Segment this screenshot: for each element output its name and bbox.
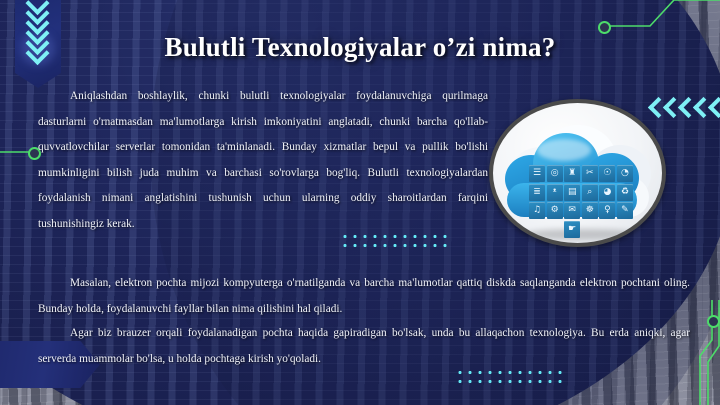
circuit-node-bottom-right bbox=[707, 315, 720, 328]
cloud-tile-spacer bbox=[617, 221, 633, 238]
cloud-app-tile: ◕ bbox=[599, 184, 615, 201]
page-title: Bulutli Texnologiyalar o’zi nima? bbox=[0, 32, 720, 63]
cloud-app-tile: ᵜ bbox=[547, 184, 563, 201]
paragraph-2: Masalan, elektron pochta mijozi kompyute… bbox=[38, 271, 690, 322]
cloud-app-tile: ▤ bbox=[564, 184, 580, 201]
cloud-app-tile: ♜ bbox=[564, 165, 580, 182]
cloud-app-tile: ♫ bbox=[529, 202, 545, 219]
cloud-app-tile: ♻ bbox=[617, 184, 633, 201]
cloud-app-tile: ☸ bbox=[582, 202, 598, 219]
chevron-left-icon bbox=[708, 96, 720, 118]
cloud-tile-spacer bbox=[582, 221, 598, 238]
cloud-tile-spacer bbox=[599, 221, 615, 238]
cloud-app-tile: ≣ bbox=[529, 184, 545, 201]
cloud-highlight bbox=[537, 139, 591, 161]
cloud-oval-frame: ☰◎♜✂☉◔≣ᵜ▤⌕◕♻♫⚙✉☸♀✎☛ bbox=[489, 99, 666, 247]
paragraph-3: Agar biz brauzer orqali foydalanadigan p… bbox=[38, 321, 690, 372]
paragraph-1-text: Aniqlashdan boshlaylik, chunki bulutli t… bbox=[38, 90, 488, 230]
cloud-tile-spacer bbox=[547, 221, 563, 238]
cloud-app-tile: ⚙ bbox=[547, 202, 563, 219]
paragraph-2-text: Masalan, elektron pochta mijozi kompyute… bbox=[38, 277, 690, 315]
presentation-slide: ☰◎♜✂☉◔≣ᵜ▤⌕◕♻♫⚙✉☸♀✎☛ Bulutli Texnologiyal… bbox=[0, 0, 720, 405]
cloud-app-tile: ✎ bbox=[617, 202, 633, 219]
cloud-app-tile: ◔ bbox=[617, 165, 633, 182]
cloud-app-tile: ◎ bbox=[547, 165, 563, 182]
cloud-app-tile: ✉ bbox=[564, 202, 580, 219]
cloud-app-tile: ☛ bbox=[564, 221, 580, 238]
paragraph-1: Aniqlashdan boshlaylik, chunki bulutli t… bbox=[38, 84, 488, 238]
cloud-tile-spacer bbox=[529, 221, 545, 238]
paragraph-3-text: Agar biz brauzer orqali foydalanadigan p… bbox=[38, 327, 690, 365]
cloud-app-tile: ✂ bbox=[582, 165, 598, 182]
chevron-left-icon bbox=[693, 96, 706, 118]
cloud-app-tile-grid: ☰◎♜✂☉◔≣ᵜ▤⌕◕♻♫⚙✉☸♀✎☛ bbox=[529, 165, 633, 237]
cloud-app-tile: ☉ bbox=[599, 165, 615, 182]
cloud-app-tile: ⌕ bbox=[582, 184, 598, 201]
cloud-app-tile: ♀ bbox=[599, 202, 615, 219]
cloud-app-tile: ☰ bbox=[529, 165, 545, 182]
cloud-computing-illustration: ☰◎♜✂☉◔≣ᵜ▤⌕◕♻♫⚙✉☸♀✎☛ bbox=[489, 99, 666, 247]
chevron-left-icon bbox=[678, 96, 691, 118]
